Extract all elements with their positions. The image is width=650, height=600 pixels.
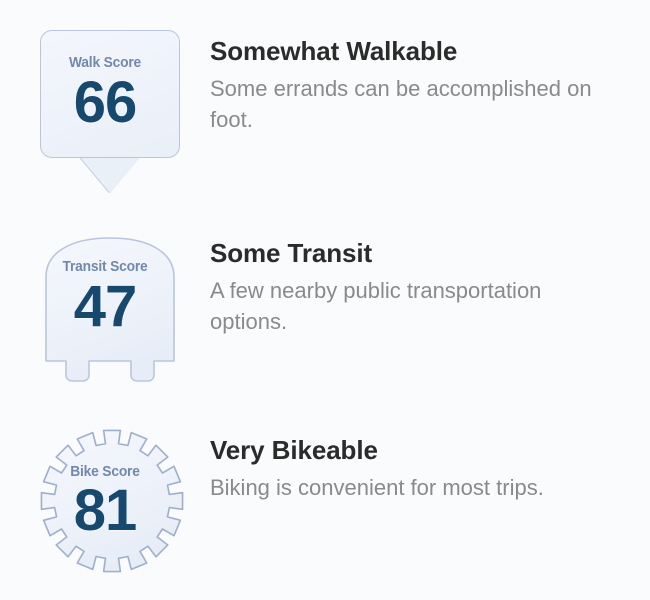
transit-score-text: Some Transit A few nearby public transpo… [210,228,650,337]
bike-score-badge[interactable]: Bike Score 81 [0,425,210,600]
walk-score-title: Somewhat Walkable [210,36,634,67]
walk-score-pin-pointer-icon [79,156,141,193]
score-row-walk: Walk Score 66 Somewhat Walkable Some err… [0,26,650,211]
transit-score-label: Transit Score [8,258,201,275]
score-row-bike: Bike Score 81 Very Bikeable Biking is co… [0,425,650,600]
walk-score-text: Somewhat Walkable Some errands can be ac… [210,26,650,135]
transit-score-badge[interactable]: Transit Score 47 [0,228,210,413]
bike-score-text: Very Bikeable Biking is convenient for m… [210,425,650,503]
walk-score-panel: Walk Score 66 Somewhat Walkable Some err… [0,0,650,600]
bike-score-description: Biking is convenient for most trips. [210,472,620,503]
walk-score-description: Some errands can be accomplished on foot… [210,73,620,135]
bike-score-value: 81 [0,482,210,540]
walk-score-badge[interactable]: Walk Score 66 [0,26,210,211]
walk-score-value: 66 [0,74,210,132]
transit-score-value: 47 [0,278,210,336]
score-row-transit: Transit Score 47 Some Transit A few near… [0,228,650,413]
walk-score-label: Walk Score [8,54,201,71]
bike-score-title: Very Bikeable [210,435,634,466]
transit-score-title: Some Transit [210,238,634,269]
transit-score-description: A few nearby public transportation optio… [210,275,620,337]
